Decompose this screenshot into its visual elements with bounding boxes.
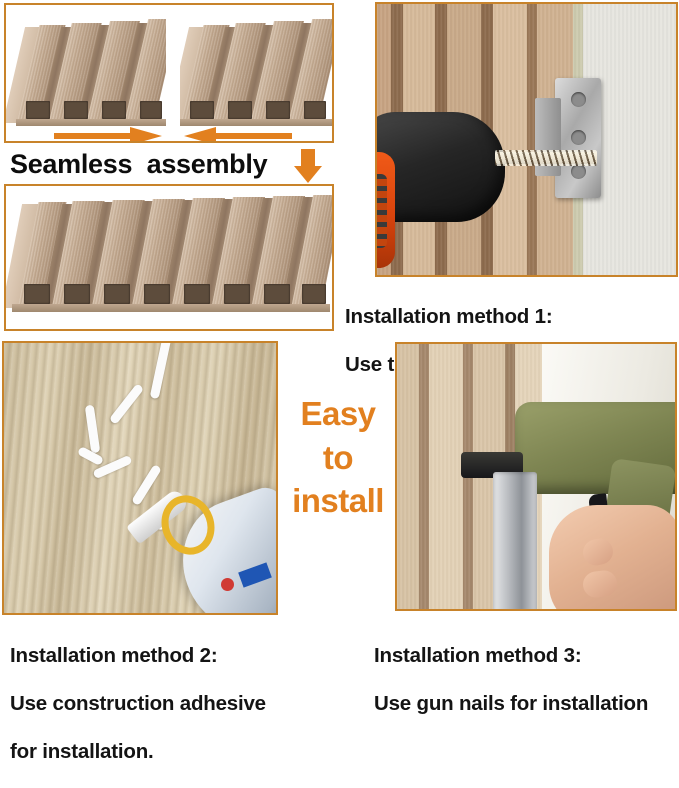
caption-method2-line2: for installation. [10,740,330,764]
easy-line-2: to [284,436,392,480]
drill-body [377,112,505,222]
infographic-root: Seamless assembly [0,0,679,684]
caption-method3: Installation method 3: Use gun nails for… [374,620,679,740]
drill-and-clip-photo [377,4,676,275]
caption-method1-title: Installation method 1: [345,305,675,329]
panel-method3-photo [395,342,677,611]
caption-method2-line1: Use construction adhesive [10,692,330,716]
nail-gun-photo [397,344,675,609]
screw-thread [495,150,597,166]
panel-assembly-top [4,3,334,143]
panel-method1-photo [375,2,678,277]
caption-method3-title: Installation method 3: [374,644,679,668]
arrow-left-icon [184,127,292,143]
arrow-right-icon [54,127,162,143]
easy-to-install-callout: Easy to install [284,392,392,532]
arrow-down-icon [294,149,322,183]
caption-method2: Installation method 2: Use construction … [10,620,330,788]
caption-method2-title: Installation method 2: [10,644,330,668]
caption-method3-line1: Use gun nails for installation [374,692,679,716]
panel-assembly-bottom [4,184,334,331]
page-title-seamless-assembly: Seamless assembly [10,146,290,182]
caulk-label-red [221,578,234,591]
drill-vents [377,174,387,248]
easy-line-3: install [284,479,392,523]
panel-method2-photo [2,341,278,615]
easy-line-1: Easy [284,392,392,436]
fluted-panel-joined-illustration [6,186,332,329]
fluted-panel-pair-illustration [6,5,332,141]
construction-adhesive-photo [4,343,276,613]
nail-gun-magazine [493,472,537,609]
